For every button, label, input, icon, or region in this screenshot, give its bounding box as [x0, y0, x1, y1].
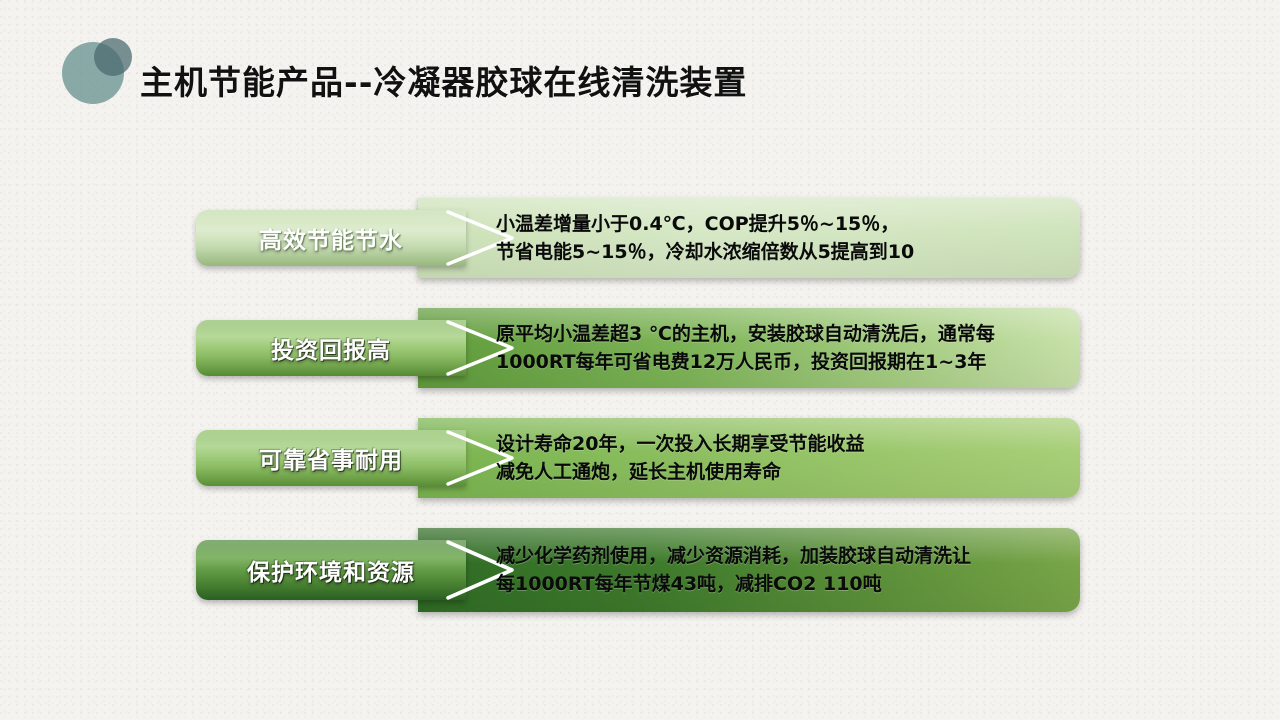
row-text-line: 节省电能5~15％，冷却水浓缩倍数从5提高到10 [496, 238, 1076, 267]
row-label: 保护环境和资源 [196, 528, 466, 612]
row-text-line: 原平均小温差超3 ℃的主机，安装胶球自动清洗后，通常每 [496, 320, 1076, 349]
row-text-line: 减少化学药剂使用，减少资源消耗，加装胶球自动清洗让 [496, 542, 1076, 571]
row-label: 投资回报高 [196, 308, 466, 388]
row-text-line: 1000RT每年可省电费12万人民币，投资回报期在1~3年 [496, 348, 1076, 377]
row-text: 小温差增量小于0.4℃，COP提升5％~15％， 节省电能5~15％，冷却水浓缩… [496, 198, 1076, 278]
row-text-line: 减免人工通炮，延长主机使用寿命 [496, 458, 1076, 487]
benefit-row[interactable]: 高效节能节水 小温差增量小于0.4℃，COP提升5％~15％， 节省电能5~15… [196, 198, 1080, 278]
row-text-line: 设计寿命20年，一次投入长期享受节能收益 [496, 430, 1076, 459]
row-text: 减少化学药剂使用，减少资源消耗，加装胶球自动清洗让 每1000RT每年节煤43吨… [496, 528, 1076, 612]
row-text-line: 小温差增量小于0.4℃，COP提升5％~15％， [496, 210, 1076, 239]
row-text: 设计寿命20年，一次投入长期享受节能收益 减免人工通炮，延长主机使用寿命 [496, 418, 1076, 498]
row-label: 高效节能节水 [196, 198, 466, 278]
benefit-rows: 高效节能节水 小温差增量小于0.4℃，COP提升5％~15％， 节省电能5~15… [0, 0, 1280, 720]
benefit-row[interactable]: 保护环境和资源 减少化学药剂使用，减少资源消耗，加装胶球自动清洗让 每1000R… [196, 528, 1080, 612]
benefit-row[interactable]: 可靠省事耐用 设计寿命20年，一次投入长期享受节能收益 减免人工通炮，延长主机使… [196, 418, 1080, 498]
row-text-line: 每1000RT每年节煤43吨，减排CO2 110吨 [496, 570, 1076, 599]
row-label: 可靠省事耐用 [196, 418, 466, 498]
benefit-row[interactable]: 投资回报高 原平均小温差超3 ℃的主机，安装胶球自动清洗后，通常每 1000RT… [196, 308, 1080, 388]
row-text: 原平均小温差超3 ℃的主机，安装胶球自动清洗后，通常每 1000RT每年可省电费… [496, 308, 1076, 388]
